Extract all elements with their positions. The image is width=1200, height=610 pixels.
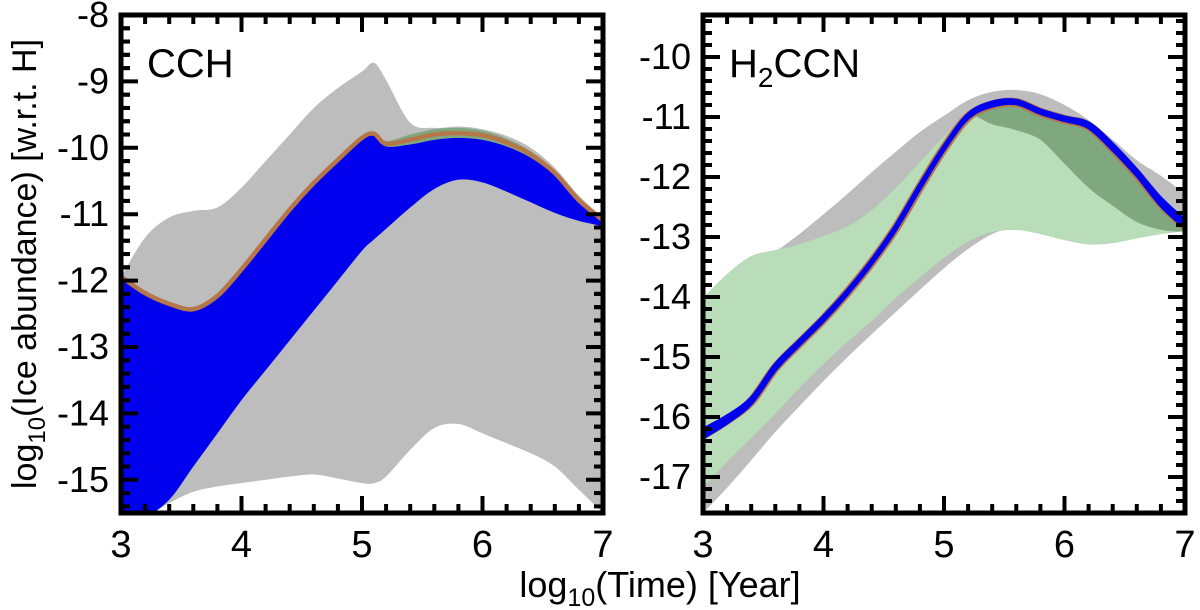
y-tick-label: -11 <box>60 193 109 234</box>
y-tick-label: -16 <box>639 396 691 437</box>
y-tick-label: -11 <box>642 96 691 137</box>
x-tick-label: 5 <box>351 524 372 566</box>
y-tick-label: -14 <box>57 392 109 433</box>
y-tick-label: -9 <box>77 60 109 101</box>
y-axis-title: log10(Ice abundance) [w.r.t. H] <box>6 39 51 489</box>
x-tick-label: 6 <box>472 524 493 566</box>
figure-root: -8-9-10-11-12-13-14-1534567CCH-10-11-12-… <box>0 0 1200 610</box>
y-tick-label: -10 <box>57 127 109 168</box>
plot-area-left <box>121 63 603 518</box>
x-tick-label: 7 <box>1174 524 1195 566</box>
y-tick-label: -8 <box>77 0 109 35</box>
plot-area-right <box>703 90 1185 513</box>
x-axis-title: log10(Time) [Year] <box>519 564 800 610</box>
panel-title-left: CCH <box>147 42 234 86</box>
y-tick-label: -12 <box>57 260 109 301</box>
y-tick-label: -13 <box>57 326 109 367</box>
x-tick-label: 5 <box>933 524 954 566</box>
y-tick-label: -15 <box>639 336 691 377</box>
x-tick-label: 4 <box>813 524 834 566</box>
x-tick-label: 4 <box>231 524 252 566</box>
panel-right: -10-11-12-13-14-15-16-1734567H2CCN <box>639 15 1196 566</box>
y-tick-label: -13 <box>639 216 691 257</box>
scientific-figure: -8-9-10-11-12-13-14-1534567CCH-10-11-12-… <box>0 0 1200 610</box>
y-tick-label: -15 <box>57 459 109 500</box>
y-tick-label: -14 <box>639 276 691 317</box>
panel-title-right: H2CCN <box>729 42 860 93</box>
x-tick-label: 3 <box>692 524 713 566</box>
x-tick-label: 7 <box>592 524 613 566</box>
y-tick-label: -10 <box>639 36 691 77</box>
y-tick-label: -12 <box>639 156 691 197</box>
x-tick-label: 3 <box>110 524 131 566</box>
x-tick-label: 6 <box>1054 524 1075 566</box>
panel-left: -8-9-10-11-12-13-14-1534567CCH <box>57 0 614 566</box>
y-tick-label: -17 <box>639 456 691 497</box>
